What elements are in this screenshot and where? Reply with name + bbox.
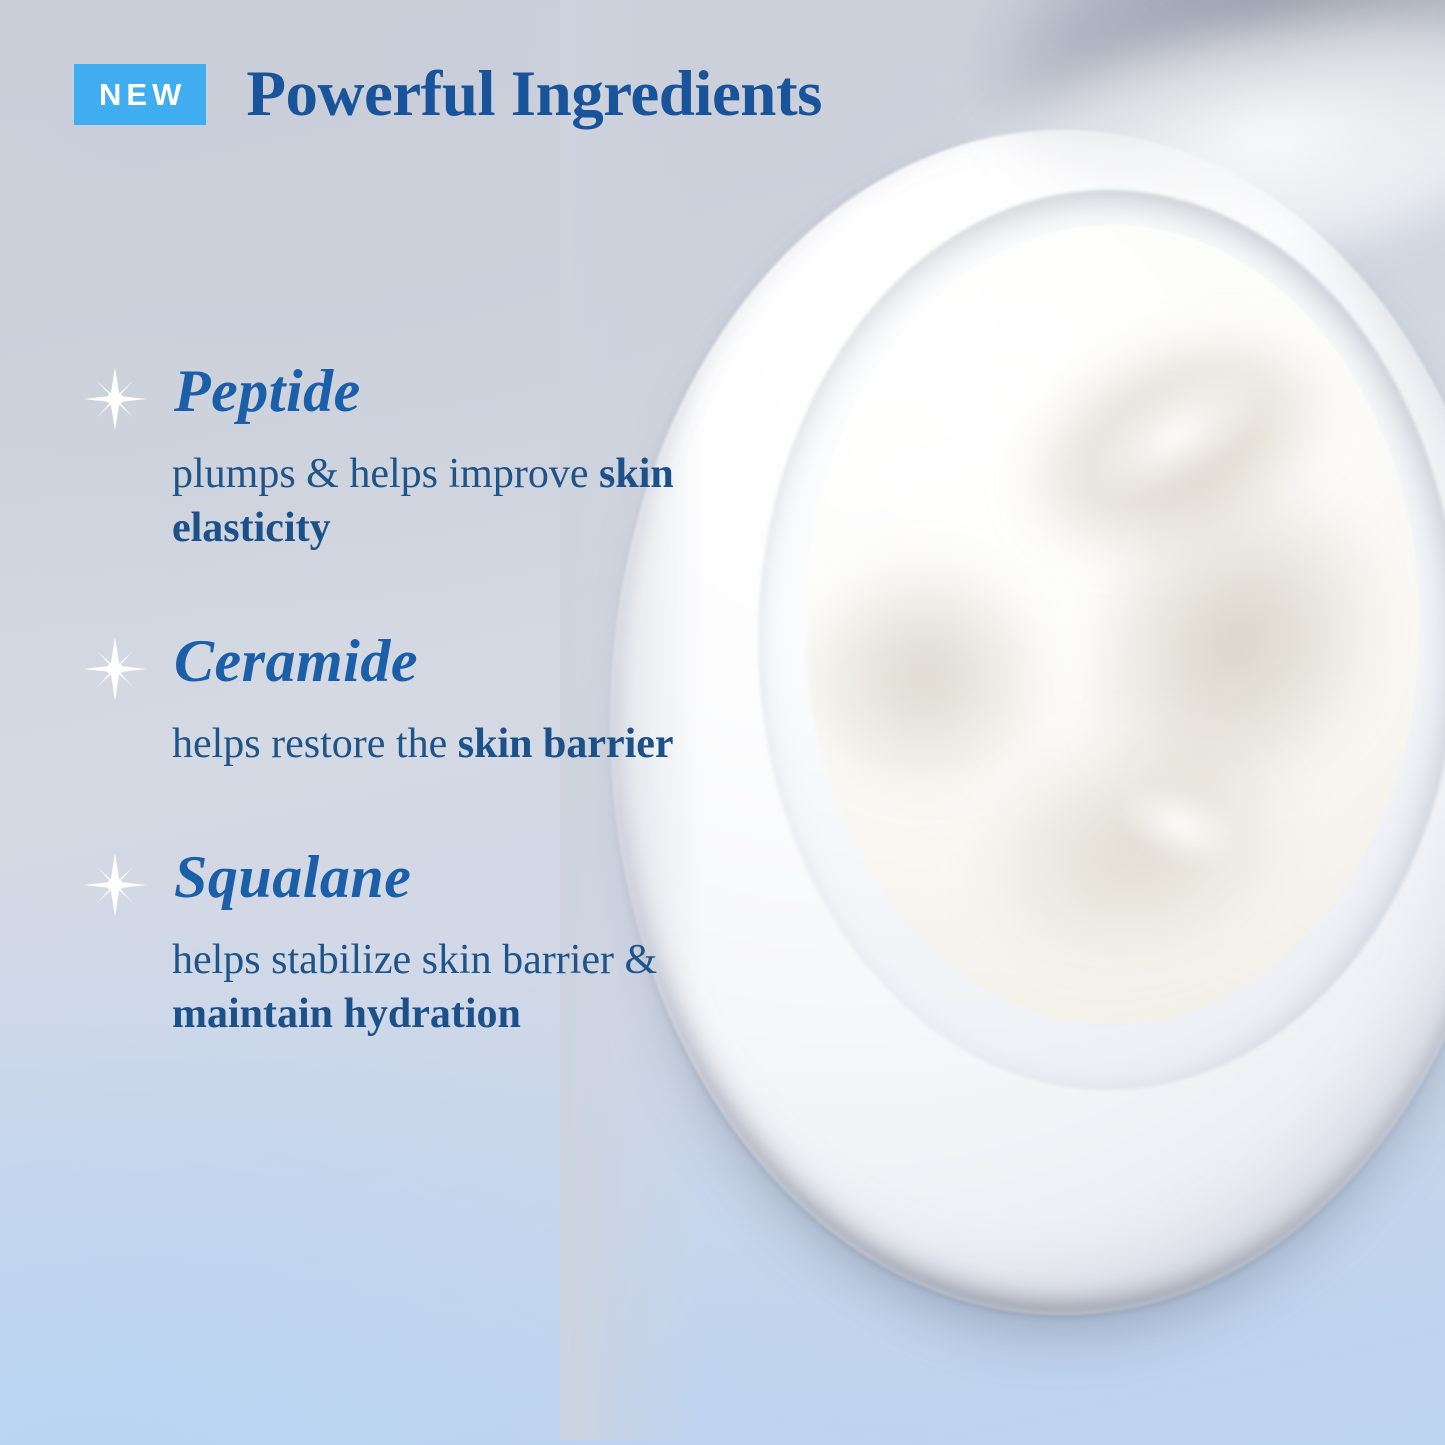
header: NEW Powerful Ingredients (74, 62, 822, 127)
sparkle-icon (82, 636, 148, 702)
ingredient-description: helps restore the skin barrier (172, 718, 692, 772)
ingredient-description-regular: helps stabilize skin barrier & (172, 937, 657, 983)
ingredient-name: Peptide (174, 360, 694, 422)
content-overlay: NEW Powerful Ingredients Peptide plumps … (0, 0, 1445, 1445)
sparkle-icon (82, 852, 148, 918)
ingredient-description: helps stabilize skin barrier & maintain … (172, 934, 692, 1042)
new-badge: NEW (74, 64, 206, 125)
ingredient-description-regular: helps restore the (172, 721, 447, 767)
ingredient-item-squalane: Squalane helps stabilize skin barrier & … (74, 846, 694, 1042)
ingredient-item-ceramide: Ceramide helps restore the skin barrier (74, 630, 694, 772)
ingredient-name: Squalane (174, 846, 694, 908)
page-title: Powerful Ingredients (246, 62, 822, 127)
ingredient-description-bold: skin barrier (458, 721, 674, 767)
ingredient-item-peptide: Peptide plumps & helps improve skin elas… (74, 360, 694, 556)
sparkle-icon (82, 366, 148, 432)
ingredient-description: plumps & helps improve skin elasticity (172, 448, 692, 556)
product-ingredients-graphic: NEW Powerful Ingredients Peptide plumps … (0, 0, 1445, 1445)
ingredient-description-regular: plumps & helps improve (172, 451, 588, 497)
ingredient-name: Ceramide (174, 630, 694, 692)
ingredient-description-bold: maintain hydration (172, 991, 521, 1037)
ingredient-list: Peptide plumps & helps improve skin elas… (74, 360, 694, 1042)
